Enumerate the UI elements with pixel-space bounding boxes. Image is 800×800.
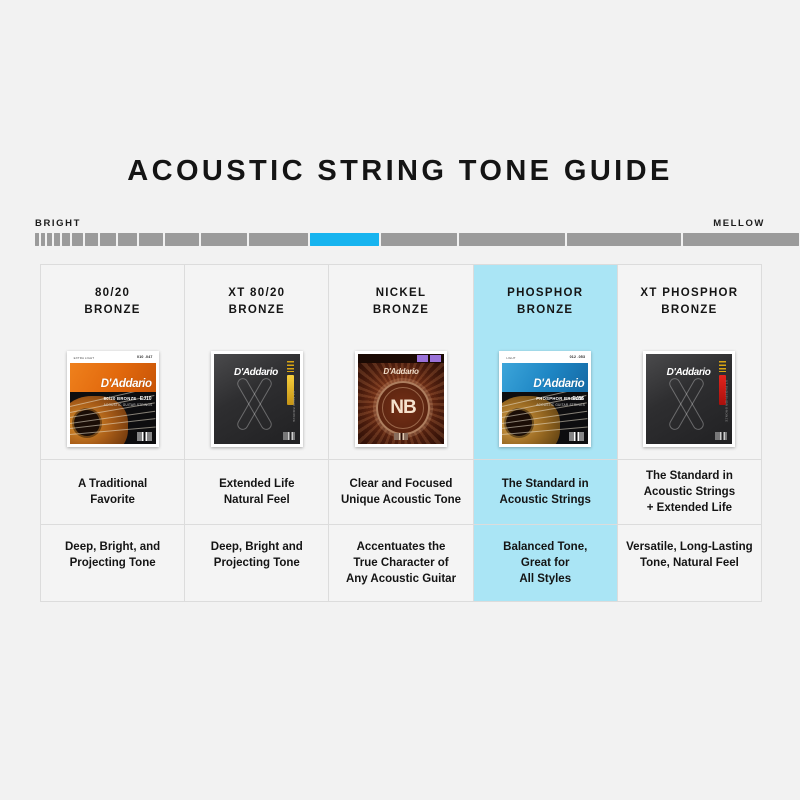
product-packet-image: D'AddarioXT 80/20 BRONZE <box>211 351 303 447</box>
product-packet-image: D'AddarioXT PHOSPHOR BRONZE <box>643 351 735 447</box>
tone-scale-segment <box>249 233 308 246</box>
tone-scale-segment <box>47 233 52 246</box>
column-header-cell: NICKELBRONZE <box>329 265 472 339</box>
packet-header: LIGHT012 .053D'Addario <box>502 354 588 392</box>
product-packet-image: LIGHT012 .053D'AddarioPHOSPHOR BRONZEACO… <box>499 351 591 447</box>
packet-series-subtitle: ACOUSTIC GUITAR STRINGS <box>536 403 585 407</box>
packet-photo: 80/20 BRONZEACOUSTIC GUITAR STRINGSEJ10 <box>70 392 156 444</box>
description-text: The Standard inAcoustic Strings <box>500 476 591 508</box>
packet-xt-face: D'AddarioXT 80/20 BRONZE <box>214 354 300 444</box>
tone-scale-bar <box>35 233 765 246</box>
packet-artwork: D'AddarioNB <box>358 354 444 444</box>
xt-x-logo-icon <box>659 377 713 431</box>
packet-series-name: XT 80/20 BRONZE <box>292 391 296 422</box>
product-packet-image: EXTRA LIGHT010 .047D'Addario80/20 BRONZE… <box>67 351 159 447</box>
column-header-cell: XT PHOSPHORBRONZE <box>618 265 761 339</box>
product-packet-image: D'AddarioNB <box>355 351 447 447</box>
xt-x-logo-icon <box>227 377 281 431</box>
packet-artwork: D'AddarioXT 80/20 BRONZE <box>214 354 300 444</box>
tone-cell: Accentuates theTrue Character ofAny Acou… <box>329 524 472 601</box>
table-column-nickel-bronze[interactable]: NICKELBRONZED'AddarioNBClear and Focused… <box>329 265 473 601</box>
description-text: Clear and FocusedUnique Acoustic Tone <box>341 476 461 508</box>
packet-artwork: D'AddarioXT PHOSPHOR BRONZE <box>646 354 732 444</box>
table-column-phosphor-bronze[interactable]: PHOSPHORBRONZELIGHT012 .053D'AddarioPHOS… <box>474 265 618 601</box>
packet-model-badge: EJ16 <box>573 396 585 402</box>
packet-series-subtitle: ACOUSTIC GUITAR STRINGS <box>104 403 153 407</box>
packet-tag-right <box>430 355 441 362</box>
packet-brand-logo: D'Addario <box>533 378 584 390</box>
tone-scale-segment <box>683 233 799 246</box>
tone-text: Deep, Bright andProjecting Tone <box>211 539 303 571</box>
barcode-icon <box>715 432 727 440</box>
scale-label-bright: BRIGHT <box>35 218 81 229</box>
tone-scale-segment <box>41 233 45 246</box>
tone-scale-segment <box>85 233 98 246</box>
tone-text: Balanced Tone,Great forAll Styles <box>503 539 587 587</box>
packet-logo-letters: NB <box>378 383 428 433</box>
column-header-cell: XT 80/20BRONZE <box>185 265 328 339</box>
barcode-icon <box>137 432 152 441</box>
packet-artwork: LIGHT012 .053D'AddarioPHOSPHOR BRONZEACO… <box>502 354 588 444</box>
tone-scale-segment-active <box>310 233 379 246</box>
packet-tag-left <box>417 355 428 362</box>
tone-scale-segment <box>54 233 60 246</box>
column-title: PHOSPHORBRONZE <box>507 285 583 318</box>
tone-scale-segment <box>35 233 39 246</box>
string-comparison-table: 80/20BRONZEEXTRA LIGHT010 .047D'Addario8… <box>40 264 762 602</box>
nb-emblem-icon: NB <box>376 381 430 435</box>
product-image-cell[interactable]: D'AddarioNB <box>329 339 472 459</box>
packet-dots-icon <box>719 361 726 372</box>
description-cell: The Standard inAcoustic Strings <box>474 459 617 524</box>
tone-scale-segment <box>139 233 162 246</box>
description-cell: Extended LifeNatural Feel <box>185 459 328 524</box>
column-title: XT PHOSPHORBRONZE <box>640 285 738 318</box>
tone-text: Accentuates theTrue Character ofAny Acou… <box>346 539 456 587</box>
column-title: 80/20BRONZE <box>84 285 140 318</box>
product-image-cell[interactable]: D'AddarioXT 80/20 BRONZE <box>185 339 328 459</box>
product-image-cell[interactable]: D'AddarioXT PHOSPHOR BRONZE <box>618 339 761 459</box>
table-column-xt-phosphor-bronze[interactable]: XT PHOSPHORBRONZED'AddarioXT PHOSPHOR BR… <box>618 265 761 601</box>
column-header-cell: PHOSPHORBRONZE <box>474 265 617 339</box>
description-text: Extended LifeNatural Feel <box>219 476 294 508</box>
tone-scale-segment <box>100 233 116 246</box>
tone-scale-segment <box>118 233 137 246</box>
acoustic-string-tone-guide: ACOUSTIC STRING TONE GUIDE BRIGHT MELLOW… <box>0 0 800 800</box>
packet-dots-icon <box>287 361 294 372</box>
tone-cell: Balanced Tone,Great forAll Styles <box>474 524 617 601</box>
product-image-cell[interactable]: LIGHT012 .053D'AddarioPHOSPHOR BRONZEACO… <box>474 339 617 459</box>
packet-photo: PHOSPHOR BRONZEACOUSTIC GUITAR STRINGSEJ… <box>502 392 588 444</box>
packet-series-name: XT PHOSPHOR BRONZE <box>724 380 728 422</box>
tone-scale-segment <box>201 233 247 246</box>
packet-brand-logo: D'Addario <box>101 378 152 390</box>
tone-cell: Deep, Bright, andProjecting Tone <box>41 524 184 601</box>
description-text: The Standard inAcoustic Strings+ Extende… <box>644 468 735 516</box>
tone-scale-segment <box>165 233 200 246</box>
packet-series-name: 80/20 BRONZE <box>104 396 137 401</box>
table-column-xt-80-20-bronze[interactable]: XT 80/20BRONZED'AddarioXT 80/20 BRONZEEx… <box>185 265 329 601</box>
page-title: ACOUSTIC STRING TONE GUIDE <box>0 155 800 188</box>
column-header-cell: 80/20BRONZE <box>41 265 184 339</box>
description-cell: A TraditionalFavorite <box>41 459 184 524</box>
column-title: NICKELBRONZE <box>373 285 429 318</box>
barcode-icon <box>283 432 295 440</box>
tone-cell: Deep, Bright andProjecting Tone <box>185 524 328 601</box>
tone-scale: BRIGHT MELLOW <box>35 218 765 254</box>
tone-scale-segment <box>381 233 457 246</box>
tone-scale-segment <box>567 233 681 246</box>
table-column-80-20-bronze[interactable]: 80/20BRONZEEXTRA LIGHT010 .047D'Addario8… <box>41 265 185 601</box>
packet-brand-logo: D'Addario <box>383 367 418 376</box>
tone-scale-segment <box>62 233 70 246</box>
packet-xt-face: D'AddarioXT PHOSPHOR BRONZE <box>646 354 732 444</box>
packet-nb-face: D'AddarioNB <box>358 354 444 444</box>
tone-cell: Versatile, Long-LastingTone, Natural Fee… <box>618 524 761 601</box>
tone-text: Deep, Bright, andProjecting Tone <box>65 539 160 571</box>
tone-text: Versatile, Long-LastingTone, Natural Fee… <box>626 539 753 571</box>
packet-model-badge: EJ10 <box>140 396 152 402</box>
packet-artwork: EXTRA LIGHT010 .047D'Addario80/20 BRONZE… <box>70 354 156 444</box>
product-image-cell[interactable]: EXTRA LIGHT010 .047D'Addario80/20 BRONZE… <box>41 339 184 459</box>
packet-gauge-label: EXTRA LIGHT <box>74 356 95 360</box>
packet-gauge-range: 010 .047 <box>137 355 153 360</box>
tone-scale-segment <box>459 233 565 246</box>
description-cell: The Standard inAcoustic Strings+ Extende… <box>618 459 761 524</box>
packet-gauge-label: LIGHT <box>506 356 515 360</box>
scale-label-mellow: MELLOW <box>713 218 765 229</box>
column-title: XT 80/20BRONZE <box>228 285 285 318</box>
barcode-icon <box>394 433 408 440</box>
description-cell: Clear and FocusedUnique Acoustic Tone <box>329 459 472 524</box>
description-text: A TraditionalFavorite <box>78 476 147 508</box>
packet-header: EXTRA LIGHT010 .047D'Addario <box>70 354 156 392</box>
barcode-icon <box>569 432 584 441</box>
tone-scale-segment <box>72 233 82 246</box>
packet-gauge-range: 012 .053 <box>570 355 586 360</box>
